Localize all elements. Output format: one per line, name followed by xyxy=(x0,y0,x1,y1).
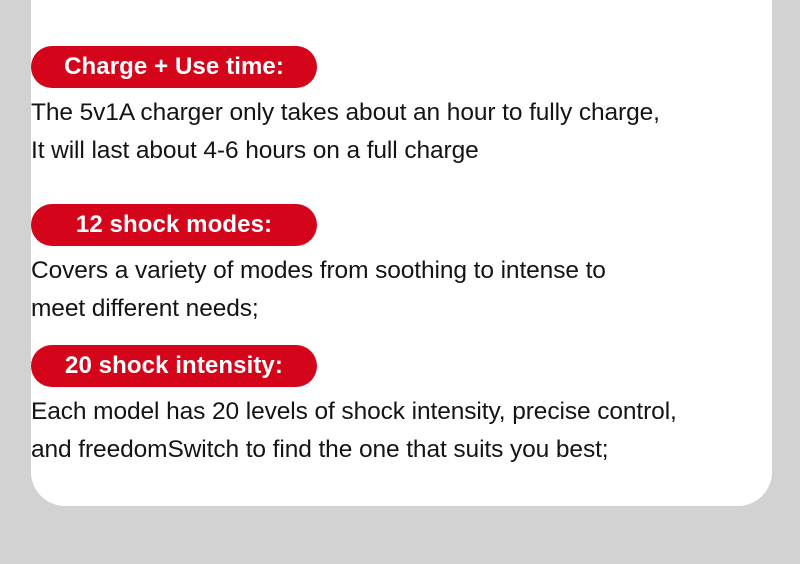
feature-description-charge: The 5v1A charger only takes about an hou… xyxy=(31,94,731,170)
description-line: Each model has 20 levels of shock intens… xyxy=(31,393,731,431)
feature-description-intensity: Each model has 20 levels of shock intens… xyxy=(31,393,731,469)
feature-section-modes: 12 shock modes: Covers a variety of mode… xyxy=(31,204,731,328)
feature-section-charge: Charge + Use time: The 5v1A charger only… xyxy=(31,46,731,170)
feature-description-modes: Covers a variety of modes from soothing … xyxy=(31,252,731,328)
description-line: The 5v1A charger only takes about an hou… xyxy=(31,94,731,132)
description-line: It will last about 4-6 hours on a full c… xyxy=(31,132,731,170)
heading-badge-modes: 12 shock modes: xyxy=(31,204,317,246)
description-line: and freedomSwitch to find the one that s… xyxy=(31,431,731,469)
badge-wrap-charge: Charge + Use time: xyxy=(31,46,731,88)
description-line: meet different needs; xyxy=(31,290,731,328)
heading-badge-charge: Charge + Use time: xyxy=(31,46,317,88)
page-root: Charge + Use time: The 5v1A charger only… xyxy=(0,0,800,564)
card-content: Charge + Use time: The 5v1A charger only… xyxy=(31,40,800,564)
badge-wrap-modes: 12 shock modes: xyxy=(31,204,731,246)
feature-section-intensity: 20 shock intensity: Each model has 20 le… xyxy=(31,345,731,469)
description-line: Covers a variety of modes from soothing … xyxy=(31,252,731,290)
heading-badge-intensity: 20 shock intensity: xyxy=(31,345,317,387)
badge-wrap-intensity: 20 shock intensity: xyxy=(31,345,731,387)
